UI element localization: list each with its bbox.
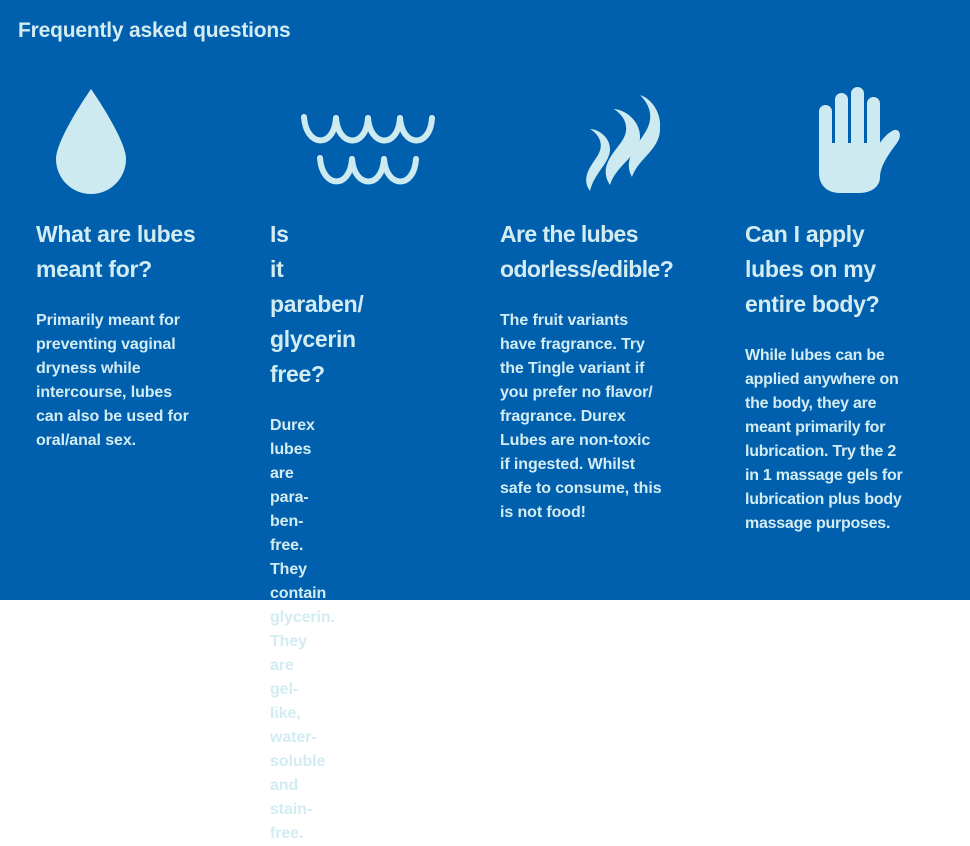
faq-item-odorless-edible: Are the lubes odorless/edible? The fruit… <box>500 85 733 525</box>
faq-item-apply-entire-body: Can I apply lubes on my entire body? Whi… <box>745 85 963 536</box>
faq-answer: The fruit variants have fragrance. Try t… <box>500 309 733 525</box>
faq-item-paraben-glycerin-free: Is it paraben/ glycerin free? Durex lube… <box>12 85 270 846</box>
faq-question: Can I apply lubes on my entire body? <box>745 217 963 322</box>
faq-panel: Frequently asked questions What are lube… <box>0 0 970 600</box>
open-hand-icon <box>807 85 963 195</box>
page-title: Frequently asked questions <box>18 18 291 44</box>
faq-answer: While lubes can be applied anywhere on t… <box>745 344 963 536</box>
faq-question: Are the lubes odorless/edible? <box>500 217 733 287</box>
steam-wisps-icon <box>570 85 733 195</box>
